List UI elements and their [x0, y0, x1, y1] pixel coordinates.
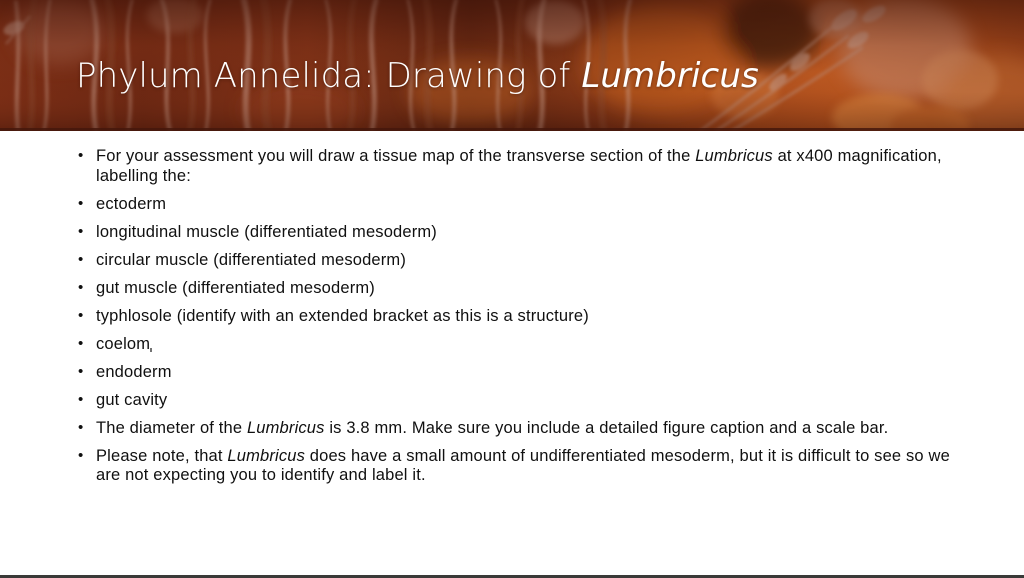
list-item-circular-muscle: circular muscle (differentiated mesoderm…	[66, 251, 964, 271]
list-item-typhlosole: typhlosole (identify with an extended br…	[66, 307, 964, 327]
list-item-gut-cavity: gut cavity	[66, 391, 964, 411]
bullet-text: typhlosole (identify with an extended br…	[96, 307, 589, 325]
list-item-diameter-scale: The diameter of the Lumbricus is 3.8 mm.…	[66, 419, 964, 439]
list-item-longitudinal-muscle: longitudinal muscle (differentiated meso…	[66, 223, 964, 243]
list-item-coelom: coelom	[66, 335, 964, 355]
bullet-text: coelom	[96, 335, 150, 353]
presentation-slide: Phylum Annelida: Drawing of Lumbricus Fo…	[0, 0, 1024, 578]
bullet-text: circular muscle (differentiated mesoderm…	[96, 251, 406, 269]
slide-header-banner: Phylum Annelida: Drawing of Lumbricus	[0, 0, 1024, 131]
list-item-gut-muscle: gut muscle (differentiated mesoderm)	[66, 279, 964, 299]
list-item-assessment-intro: For your assessment you will draw a tiss…	[66, 147, 964, 186]
page-title: Phylum Annelida: Drawing of Lumbricus	[76, 58, 759, 95]
list-item-endoderm: endoderm	[66, 363, 964, 383]
slide-body: For your assessment you will draw a tiss…	[0, 131, 1024, 575]
list-item-ectoderm: ectoderm	[66, 195, 964, 215]
bullet-text: gut cavity	[96, 391, 167, 409]
bullet-text: longitudinal muscle (differentiated meso…	[96, 223, 437, 241]
bullet-list: For your assessment you will draw a tiss…	[66, 147, 964, 486]
bullet-text: gut muscle (differentiated mesoderm)	[96, 279, 375, 297]
title-prefix: Phylum Annelida: Drawing of	[76, 56, 581, 96]
title-italic-genus: Lumbricus	[581, 56, 758, 96]
bullet-text: For your assessment you will draw a tiss…	[96, 147, 942, 185]
bullet-text: endoderm	[96, 363, 172, 381]
bullet-text: Please note, that Lumbricus does have a …	[96, 447, 950, 485]
bullet-text: The diameter of the Lumbricus is 3.8 mm.…	[96, 419, 888, 437]
list-item-undifferentiated-mesoderm-note: Please note, that Lumbricus does have a …	[66, 447, 962, 486]
bullet-text: ectoderm	[96, 195, 166, 213]
